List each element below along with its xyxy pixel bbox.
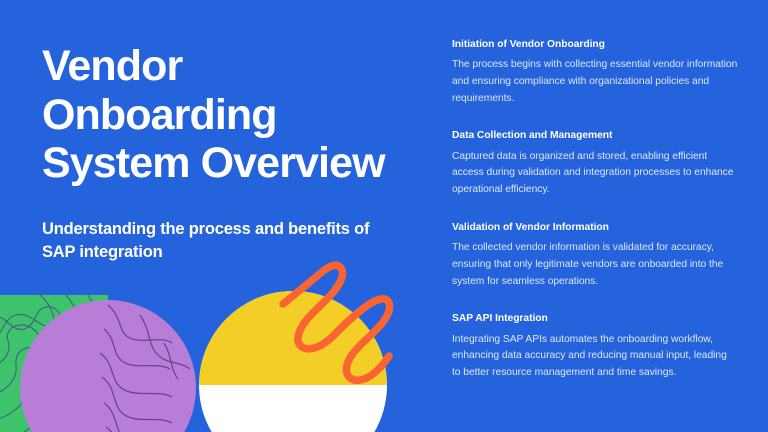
green-contour-rectangle [0, 295, 114, 432]
page-subtitle: Understanding the process and benefits o… [42, 218, 387, 265]
content-block: Data Collection and Management Captured … [452, 129, 738, 198]
content-block-heading: SAP API Integration [452, 312, 738, 325]
content-block-body: Captured data is organized and stored, e… [452, 149, 738, 199]
content-block: SAP API Integration Integrating SAP APIs… [452, 312, 738, 381]
orange-squiggle [283, 265, 390, 380]
content-block: Validation of Vendor Information The col… [452, 221, 738, 290]
content-block-heading: Validation of Vendor Information [452, 221, 738, 234]
content-block: Initiation of Vendor Onboarding The proc… [452, 38, 738, 107]
content-block-body: The collected vendor information is vali… [452, 240, 738, 290]
title-line-2: Onboarding [42, 91, 277, 139]
yellow-white-circle [195, 285, 395, 432]
slide-canvas: Vendor Onboarding System Overview Unders… [0, 0, 768, 432]
left-column: Vendor Onboarding System Overview Unders… [42, 42, 412, 265]
page-title: Vendor Onboarding System Overview [42, 42, 412, 188]
title-line-3: System Overview [42, 139, 385, 187]
purple-contour-circle [20, 300, 196, 432]
content-block-body: Integrating SAP APIs automates the onboa… [452, 332, 738, 382]
content-block-heading: Initiation of Vendor Onboarding [452, 38, 738, 51]
content-block-body: The process begins with collecting essen… [452, 57, 738, 107]
content-blocks-column: Initiation of Vendor Onboarding The proc… [452, 38, 738, 382]
content-block-heading: Data Collection and Management [452, 129, 738, 142]
title-line-1: Vendor [42, 42, 182, 90]
decorative-artwork [0, 255, 430, 432]
